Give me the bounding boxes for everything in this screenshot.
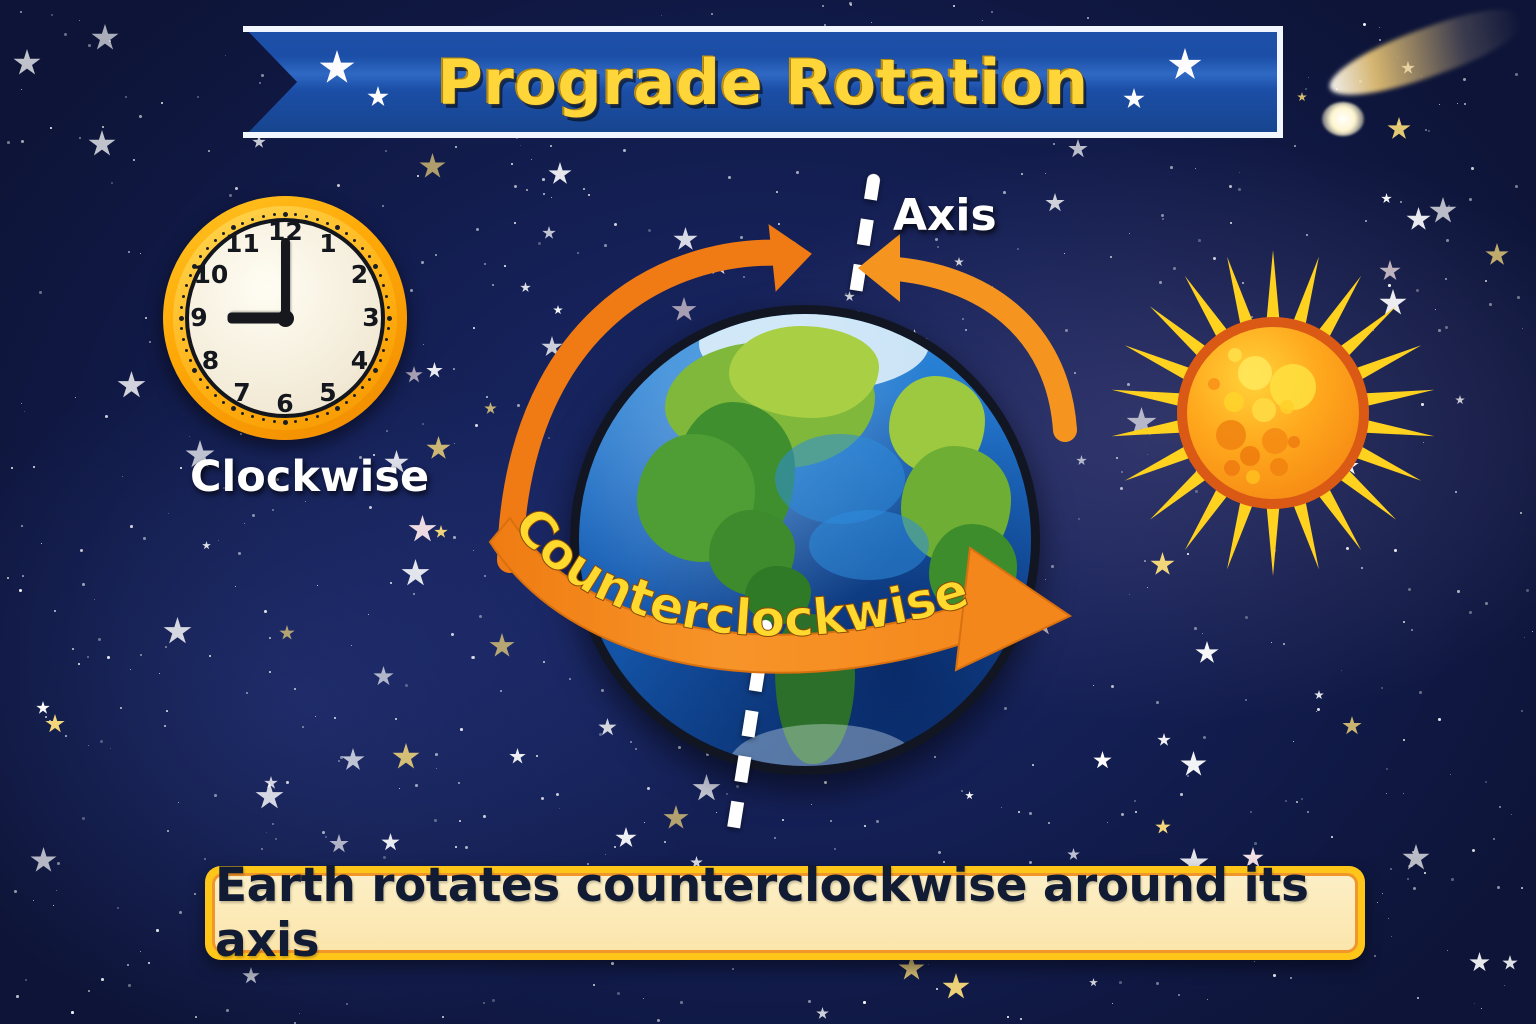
star-dot [1411, 865, 1413, 867]
star-icon [520, 282, 531, 293]
star-dot [1517, 296, 1520, 299]
star-dot [526, 189, 528, 191]
star-dot [235, 187, 238, 190]
star-dot [218, 540, 219, 541]
star-dot [961, 790, 963, 792]
star-icon [1089, 978, 1098, 987]
star-dot [517, 404, 520, 407]
star-dot [1020, 1018, 1022, 1020]
star-icon [965, 791, 974, 800]
star-dot [1301, 798, 1303, 800]
star-dot [1481, 1008, 1482, 1009]
star-dot [390, 582, 392, 584]
star-dot [208, 150, 210, 152]
star-dot [78, 663, 80, 665]
sun-spot [1252, 398, 1276, 422]
star-icon [615, 827, 637, 849]
star-dot [442, 1016, 444, 1018]
star-dot [850, 4, 852, 6]
star-icon [542, 226, 556, 240]
star-dot [1331, 836, 1333, 838]
star-icon [408, 515, 437, 544]
clock-tick [283, 212, 288, 217]
star-dot [1203, 736, 1206, 739]
star-icon [434, 525, 448, 539]
star-dot [743, 276, 745, 278]
star-dot [1499, 806, 1501, 808]
star-dot [1447, 950, 1448, 951]
star-dot [164, 725, 166, 727]
star-icon [541, 336, 563, 358]
star-dot [953, 5, 955, 7]
star-dot [128, 984, 131, 987]
star-dot [100, 740, 103, 743]
star-dot [971, 286, 972, 287]
star-dot [238, 552, 241, 555]
star-dot [728, 176, 731, 179]
clock-minute-hand [281, 238, 290, 318]
clock-numeral: 9 [182, 304, 216, 332]
clock-tick [182, 338, 185, 341]
analog-clock: 121234567891011 [163, 196, 407, 440]
star-dot [244, 523, 245, 524]
clock-numeral: 4 [343, 347, 377, 375]
star-dot [399, 788, 400, 789]
star-dot [161, 102, 163, 104]
infographic-poster: Prograde Rotation 121234567891011 Clockw… [0, 0, 1536, 1024]
star-icon [202, 541, 211, 550]
star-dot [130, 525, 133, 528]
star-dot [614, 223, 617, 226]
star-dot [465, 846, 468, 849]
star-dot [1524, 637, 1525, 638]
caption-box: Earth rotates counterclockwise around it… [205, 866, 1365, 960]
star-dot [346, 1003, 348, 1005]
sun-spot [1288, 436, 1300, 448]
star-dot [1134, 800, 1136, 802]
star-icon [88, 130, 116, 158]
star-dot [1162, 218, 1164, 220]
star-dot [483, 815, 486, 818]
star-dot [678, 746, 681, 749]
star-dot [410, 289, 413, 292]
star-dot [630, 741, 632, 743]
star-dot [436, 768, 437, 769]
star-dot [22, 575, 24, 577]
star-dot [1074, 372, 1076, 374]
star-dot [1445, 278, 1447, 280]
star-icon [548, 162, 572, 186]
star-dot [105, 415, 108, 418]
star-dot [1285, 800, 1287, 802]
star-icon [942, 973, 970, 1001]
star-dot [1471, 167, 1474, 170]
star-dot [460, 728, 463, 731]
star-dot [1365, 220, 1367, 222]
star-dot [938, 851, 941, 854]
star-dot [338, 760, 340, 762]
star-dot [1202, 633, 1203, 634]
clock-tick [189, 359, 192, 362]
star-icon [1157, 733, 1171, 747]
star-dot [778, 223, 780, 225]
star-dot [79, 20, 80, 21]
clock-tick [379, 359, 382, 362]
star-dot [209, 655, 211, 657]
star-dot [664, 841, 666, 843]
star-dot [1129, 233, 1130, 234]
star-dot [302, 726, 304, 728]
star-dot [644, 822, 645, 823]
star-dot [1178, 994, 1180, 996]
star-dot [1388, 918, 1389, 919]
star-icon [816, 1007, 829, 1020]
star-icon [392, 743, 420, 771]
star-dot [21, 140, 24, 143]
sun-icon [1108, 248, 1438, 578]
star-icon [401, 559, 430, 588]
star-dot [1135, 811, 1137, 813]
star-dot [179, 911, 182, 914]
star-dot [1010, 318, 1013, 321]
star-dot [334, 717, 336, 719]
star-dot [167, 830, 169, 832]
star-dot [24, 411, 25, 412]
clock-tick [214, 394, 217, 397]
star-dot [1417, 997, 1419, 999]
star-dot [711, 13, 713, 15]
star-dot [16, 995, 19, 998]
star-icon [341, 748, 365, 772]
star-dot [550, 145, 552, 147]
star-dot [1229, 185, 1232, 188]
star-icon [373, 666, 394, 687]
clock-tick [326, 412, 329, 415]
star-dot [796, 171, 799, 174]
star-dot [351, 645, 352, 646]
star-dot [417, 175, 419, 177]
star-icon [163, 617, 192, 646]
star-dot [117, 907, 119, 909]
star-dot [982, 20, 983, 21]
star-dot [122, 476, 123, 477]
clock-numeral: 7 [225, 379, 259, 407]
star-icon [1469, 952, 1490, 973]
star-dot [583, 188, 585, 190]
star-dot [385, 150, 387, 152]
star-dot [71, 1011, 74, 1014]
star-dot [864, 825, 866, 827]
star-dot [405, 684, 408, 687]
star-dot [614, 846, 616, 848]
star-dot [1438, 329, 1441, 332]
star-dot [369, 506, 372, 509]
star-dot [1045, 173, 1046, 174]
clock-center-cap [277, 310, 294, 327]
star-dot [1403, 621, 1405, 623]
star-dot [538, 242, 541, 245]
star-dot [647, 787, 650, 790]
star-icon [1429, 197, 1457, 225]
clock-tick [273, 420, 276, 423]
star-dot [936, 988, 938, 990]
star-dot [623, 149, 626, 152]
star-icon [671, 297, 697, 323]
star-dot [604, 244, 607, 247]
star-dot [272, 823, 274, 825]
star-dot [1112, 1003, 1113, 1004]
sun-spot [1238, 356, 1272, 390]
star-dot [1521, 710, 1523, 712]
star-dot [80, 549, 83, 552]
star-dot [88, 745, 89, 746]
star-dot [1451, 878, 1454, 881]
star-dot [128, 251, 130, 253]
star-dot [1111, 685, 1114, 688]
star-dot [454, 443, 455, 444]
star-dot [863, 1001, 866, 1004]
star-dot [88, 44, 91, 47]
star-dot [1412, 851, 1414, 853]
star-dot [1413, 887, 1416, 890]
star-dot [133, 159, 135, 161]
star-dot [1180, 793, 1183, 796]
sun-spot [1216, 420, 1246, 450]
star-dot [543, 193, 545, 195]
star-dot [143, 537, 146, 540]
star-dot [1400, 201, 1402, 203]
star-dot [475, 424, 478, 427]
star-dot [657, 1019, 660, 1022]
star-dot [75, 397, 76, 398]
star-dot [1411, 629, 1413, 631]
star-icon [1093, 751, 1112, 770]
star-dot [120, 707, 122, 709]
star-dot [1474, 1003, 1475, 1004]
sun-spot [1262, 428, 1288, 454]
clock-numeral: 5 [311, 379, 345, 407]
star-dot [1129, 594, 1130, 595]
star-dot [504, 265, 506, 267]
star-dot [1087, 17, 1089, 19]
star-dot [473, 327, 475, 329]
star-dot [127, 964, 129, 966]
clock-tick [189, 274, 192, 277]
star-dot [1250, 811, 1252, 813]
star-dot [286, 781, 289, 784]
star-dot [1446, 239, 1449, 242]
star-dot [102, 126, 104, 128]
star-dot [520, 145, 521, 146]
star-icon [36, 701, 50, 715]
star-dot [41, 543, 42, 544]
star-dot [149, 341, 151, 343]
comet-tail [1322, 0, 1526, 111]
star-icon [1455, 395, 1465, 405]
star-dot [1408, 865, 1410, 867]
star-dot [934, 756, 936, 758]
star-dot [937, 246, 939, 248]
star-dot [1445, 326, 1448, 329]
star-dot [830, 820, 832, 822]
star-icon [426, 362, 443, 379]
star-dot [65, 735, 67, 737]
star-dot [322, 831, 325, 834]
comet-head [1322, 102, 1364, 136]
star-dot [1029, 812, 1032, 815]
star-dot [1271, 642, 1272, 643]
star-dot [680, 1001, 683, 1004]
star-dot [125, 96, 127, 98]
caption-inner: Earth rotates counterclockwise around it… [212, 873, 1358, 953]
star-dot [39, 291, 42, 294]
star-dot [165, 646, 167, 648]
star-dot [21, 525, 23, 527]
star-icon [673, 227, 698, 252]
star-dot [204, 858, 206, 860]
star-icon [242, 967, 260, 985]
star-dot [272, 509, 274, 511]
star-icon [708, 255, 729, 276]
star-dot [49, 720, 51, 722]
star-dot [1391, 936, 1392, 937]
star-dot [413, 593, 415, 595]
star-dot [776, 191, 778, 193]
star-dot [1296, 801, 1298, 803]
clock-numeral: 1 [311, 230, 345, 258]
star-dot [1469, 611, 1472, 614]
sun-spot [1246, 470, 1260, 484]
star-dot [962, 318, 964, 320]
star-dot [194, 893, 196, 895]
star-dot [225, 55, 226, 56]
star-dot [422, 423, 424, 425]
star-dot [648, 229, 651, 232]
star-dot [1485, 280, 1487, 282]
clock-tick [262, 215, 265, 218]
star-dot [1064, 253, 1065, 254]
star-dot [88, 990, 90, 992]
star-dot [511, 163, 513, 165]
clock-tick [273, 213, 276, 216]
star-dot [156, 929, 159, 932]
star-dot [1293, 741, 1294, 742]
star-dot [1194, 627, 1197, 630]
star-dot [45, 716, 47, 718]
star-dot [484, 263, 486, 265]
star-dot [1386, 768, 1388, 770]
star-dot [536, 755, 538, 757]
star-dot [1526, 589, 1529, 592]
star-dot [1448, 205, 1450, 207]
clock-tick [305, 215, 308, 218]
star-dot [1317, 708, 1320, 711]
star-icon [553, 305, 563, 315]
star-dot [57, 862, 60, 865]
star-dot [849, 2, 852, 5]
star-icon [419, 153, 446, 180]
star-dot [50, 127, 52, 129]
star-dot [415, 784, 418, 787]
sun-spot [1280, 400, 1294, 414]
star-dot [1457, 590, 1460, 593]
star-icon [663, 805, 689, 831]
star-dot [7, 577, 9, 579]
star-dot [261, 848, 263, 850]
star-dot [1170, 166, 1173, 169]
star-dot [476, 228, 479, 231]
star-dot [459, 820, 461, 822]
star-icon [279, 625, 295, 641]
clock-numeral: 3 [354, 304, 388, 332]
star-dot [1450, 774, 1451, 775]
sun-spot [1228, 348, 1242, 362]
star-dot [423, 344, 424, 345]
axis-label: Axis [893, 190, 997, 241]
star-dot [588, 194, 590, 196]
star-dot [1245, 699, 1247, 701]
clock-numeral: 8 [194, 347, 228, 375]
star-dot [1230, 222, 1232, 224]
star-dot [266, 832, 267, 833]
star-dot [33, 900, 34, 901]
star-dot [1294, 145, 1296, 147]
star-dot [317, 585, 318, 586]
star-icon [381, 833, 400, 852]
star-icon [45, 714, 65, 734]
star-dot [435, 753, 438, 756]
star-dot [1316, 711, 1317, 712]
sun-spot [1208, 378, 1220, 390]
star-dot [197, 96, 199, 98]
counterclockwise-rotation-band: Counterclockwise Rotation [470, 430, 1110, 710]
star-dot [740, 236, 743, 239]
star-dot [1485, 781, 1487, 783]
star-dot [1497, 886, 1500, 889]
star-icon [692, 774, 721, 803]
star-dot [559, 808, 560, 809]
star-dot [1521, 887, 1523, 889]
sun-spot [1224, 392, 1244, 412]
star-dot [661, 15, 662, 16]
star-dot [1438, 718, 1441, 721]
star-icon [1402, 844, 1430, 872]
page-title: Prograde Rotation [243, 26, 1283, 138]
clock-numeral: 10 [194, 261, 228, 289]
star-icon [1485, 243, 1509, 267]
star-dot [195, 1016, 197, 1018]
star-dot [1374, 955, 1376, 957]
star-dot [617, 992, 620, 995]
star-icon [1155, 819, 1171, 835]
star-dot [492, 284, 494, 286]
star-dot [130, 669, 131, 670]
star-dot [643, 998, 644, 999]
star-dot [876, 820, 879, 823]
star-dot [1021, 173, 1023, 175]
star-dot [1403, 739, 1405, 741]
clock-tick [185, 349, 188, 352]
star-dot [168, 513, 169, 514]
star-dot [991, 11, 993, 13]
star-dot [871, 22, 872, 23]
star-dot [824, 781, 827, 784]
star-dot [514, 185, 517, 188]
star-dot [1386, 793, 1387, 794]
star-dot [1195, 168, 1196, 169]
star-dot [82, 817, 85, 820]
star-dot [337, 184, 340, 187]
